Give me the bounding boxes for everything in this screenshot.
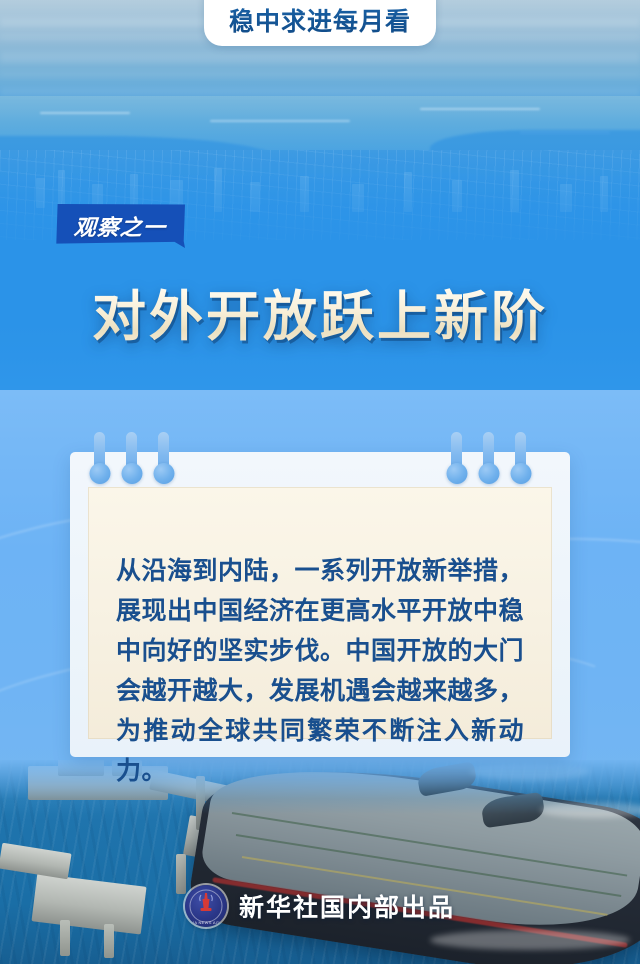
building <box>452 180 462 212</box>
boat-wake <box>540 802 640 818</box>
sky-haze-band <box>0 52 640 63</box>
observation-tag-label: 观察之一 <box>73 210 167 242</box>
series-badge-label: 稳中求进每月看 <box>229 2 411 38</box>
sea-glint <box>40 112 130 114</box>
support-pile <box>104 924 114 958</box>
building <box>404 172 412 212</box>
headline-container: 对外开放跃上新阶 <box>0 272 640 351</box>
binder-pin <box>483 432 494 475</box>
building <box>352 184 364 212</box>
building <box>36 178 45 208</box>
logo-arc-text: XINHUA NEWS AGENCY <box>185 920 227 925</box>
building <box>510 170 519 212</box>
footer-credit: 新华社国内部出品 <box>239 888 455 924</box>
sea-glint <box>520 132 610 134</box>
logo-torch-mark <box>196 892 216 914</box>
binder-pin <box>158 432 169 475</box>
binder-pin <box>126 432 137 475</box>
building <box>214 168 222 212</box>
memo-paper: 从沿海到内陆，一系列开放新举措，展现出中国经济在更高水平开放中稳中向好的坚实步伐… <box>88 487 552 739</box>
sea-glint <box>420 108 540 110</box>
coastline-center <box>250 152 470 174</box>
xinhua-logo-icon: XINHUA NEWS AGENCY <box>185 885 227 927</box>
sky-haze-band <box>0 72 640 77</box>
building <box>300 176 309 212</box>
sky-haze-band <box>0 88 640 96</box>
coastline-left <box>0 136 280 176</box>
coastline-right <box>430 130 640 176</box>
series-badge[interactable]: 稳中求进每月看 <box>204 0 436 46</box>
building <box>600 176 608 212</box>
memo-body-text: 从沿海到内陆，一系列开放新举措，展现出中国经济在更高水平开放中稳中向好的坚实步伐… <box>116 552 524 792</box>
catwalk <box>0 843 72 880</box>
footer: XINHUA NEWS AGENCY 新华社国内部出品 <box>0 885 640 927</box>
headline-title: 对外开放跃上新阶 <box>92 272 548 351</box>
observation-tag: 观察之一 <box>55 204 185 248</box>
building <box>250 182 260 212</box>
binder-pin <box>515 432 526 475</box>
poster-root: 稳中求进每月看 观察之一 对外开放跃上新阶 从沿海到内陆，一系列开放新举措，展现… <box>0 0 640 964</box>
memo-card: 从沿海到内陆，一系列开放新举措，展现出中国经济在更高水平开放中稳中向好的坚实步伐… <box>70 452 570 757</box>
binder-pin <box>94 432 105 475</box>
sea-surface <box>0 96 640 156</box>
building <box>560 184 572 212</box>
boat-wake <box>430 930 630 950</box>
sea-glint <box>210 120 350 122</box>
binder-pin <box>451 432 462 475</box>
terminal-block <box>58 760 104 776</box>
